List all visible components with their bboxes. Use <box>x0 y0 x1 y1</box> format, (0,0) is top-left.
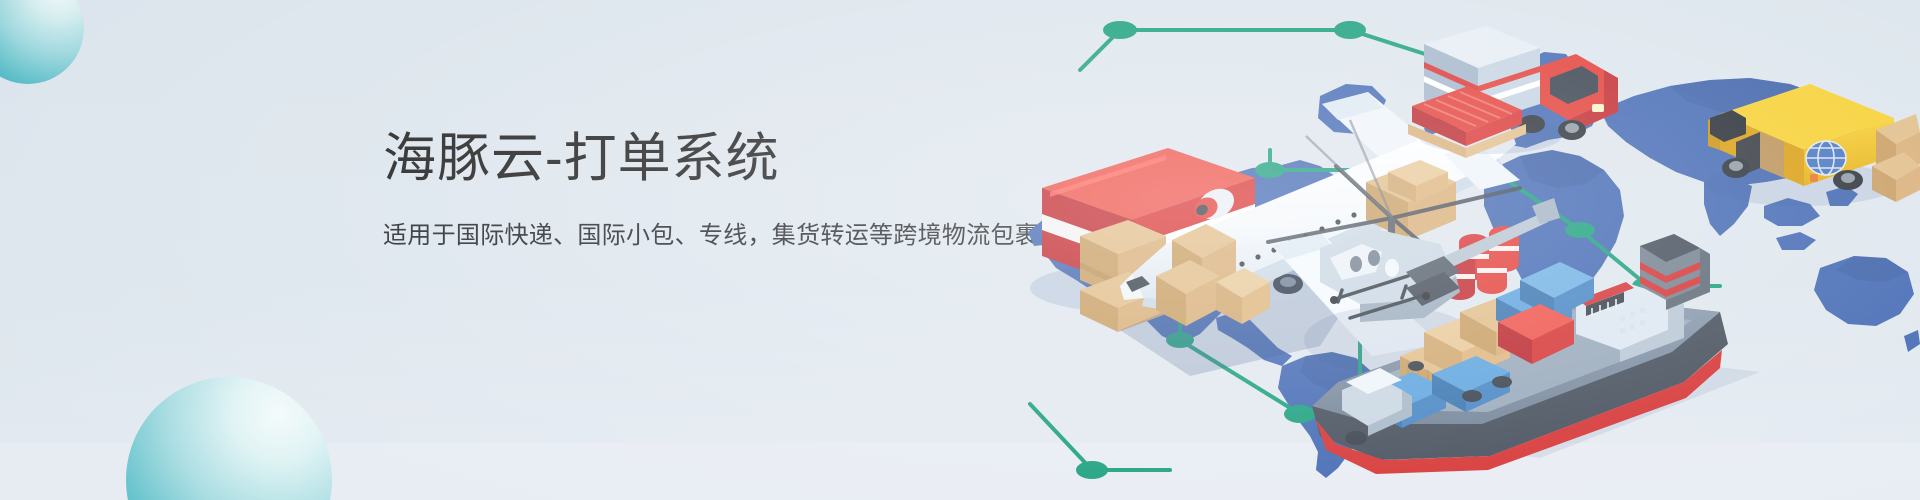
teal-gradient-circle-top-left <box>0 0 84 84</box>
teal-gradient-circle-bottom-left <box>126 377 332 500</box>
banner-text-block: 海豚云-打单系统 适用于国际快递、国际小包、专线，集货转运等跨境物流包裹处理 <box>383 128 1103 252</box>
global-logistics-illustration <box>1020 0 1920 500</box>
page-title: 海豚云-打单系统 <box>383 128 1103 191</box>
hero-banner: 海豚云-打单系统 适用于国际快递、国际小包、专线，集货转运等跨境物流包裹处理 <box>0 0 1920 500</box>
page-subtitle: 适用于国际快递、国际小包、专线，集货转运等跨境物流包裹处理 <box>383 219 1103 253</box>
